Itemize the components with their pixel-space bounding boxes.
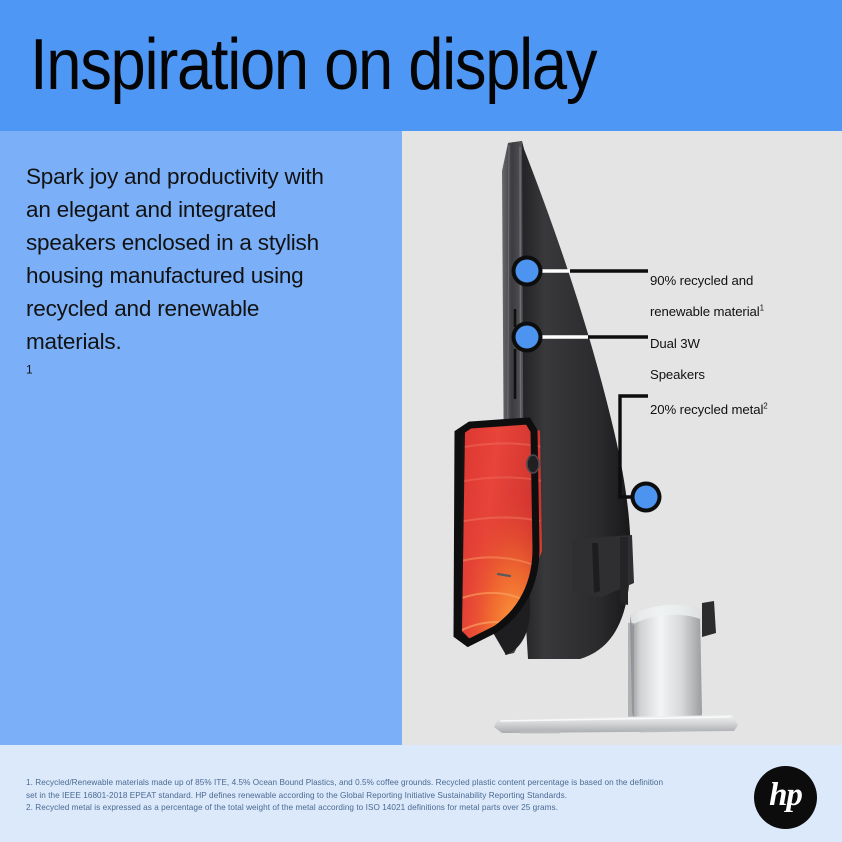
body-line-4: housing manufactured using [26, 259, 376, 292]
callout-label-recycled-metal: 20% recycled metal2 [650, 386, 768, 433]
footnote-1-line-1: 1. Recycled/Renewable materials made up … [26, 777, 716, 790]
body-copy: Spark joy and productivity with an elega… [26, 160, 376, 391]
body-line-3: speakers enclosed in a stylish [26, 226, 376, 259]
cable-clip [702, 601, 716, 637]
stand-column [630, 605, 702, 723]
callout-2-line-2: Speakers [650, 367, 705, 383]
hp-logo-text: hp [754, 766, 817, 829]
callout-dot-1[interactable] [516, 260, 539, 283]
body-line-6: materials. [26, 325, 376, 358]
body-line-5: recycled and renewable [26, 292, 376, 325]
callout-3-line-1-wrap: 20% recycled metal2 [650, 402, 768, 418]
callout-dot-3[interactable] [635, 486, 658, 509]
callout-2-line-1: Dual 3W [650, 336, 705, 352]
footer-band: 1. Recycled/Renewable materials made up … [0, 745, 842, 842]
hp-logo: hp [754, 766, 817, 829]
power-button-icon [527, 455, 539, 473]
footnotes: 1. Recycled/Renewable materials made up … [26, 777, 716, 815]
callout-1-marker: 1 [760, 303, 764, 312]
marketing-slide: Inspiration on display Spark joy and pro… [0, 0, 842, 842]
callout-dot-2[interactable] [516, 326, 539, 349]
footnote-2: 2. Recycled metal is expressed as a perc… [26, 802, 716, 815]
body-footnote-marker: 1 [26, 363, 32, 377]
body-line-2: an elegant and integrated [26, 193, 376, 226]
page-title: Inspiration on display [30, 23, 596, 107]
callout-1-line-2: renewable material [650, 304, 760, 319]
arm-neck [620, 537, 628, 605]
header-band: Inspiration on display [0, 0, 842, 131]
monitor-illustration [402, 131, 842, 745]
callout-1-line-1: 90% recycled and [650, 273, 764, 289]
left-copy-panel: Spark joy and productivity with an elega… [0, 131, 402, 745]
footnote-1-line-2: set in the IEEE 16801-2018 EPEAT standar… [26, 790, 716, 803]
callout-3-marker: 2 [763, 401, 767, 410]
base-foot-right [640, 730, 690, 731]
callout-3-line-1: 20% recycled metal [650, 402, 763, 417]
body-line-1: Spark joy and productivity with [26, 160, 376, 193]
callout-1-line-2-wrap: renewable material1 [650, 304, 764, 320]
product-image-panel [402, 131, 842, 745]
stand-column-shadow [628, 623, 634, 721]
